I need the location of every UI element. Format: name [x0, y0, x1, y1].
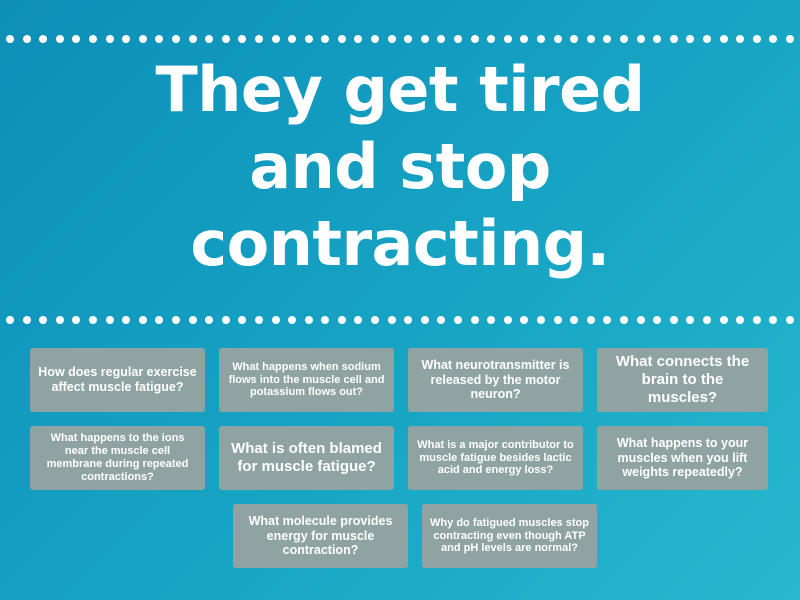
- divider-dot: [72, 35, 80, 43]
- page-title: They get tired and stop contracting.: [40, 52, 760, 283]
- divider-dot: [554, 316, 562, 324]
- divider-dot: [172, 316, 180, 324]
- divider-dot: [106, 35, 114, 43]
- divider-dot: [786, 35, 794, 43]
- divider-dot: [454, 316, 462, 324]
- divider-dot: [122, 316, 130, 324]
- divider-dot: [421, 35, 429, 43]
- divider-dot: [288, 316, 296, 324]
- divider-dot: [388, 316, 396, 324]
- headline-line-2: and stop: [40, 129, 760, 206]
- divider-dot: [653, 35, 661, 43]
- divider-dot: [338, 316, 346, 324]
- divider-dot: [720, 35, 728, 43]
- divider-dot: [421, 316, 429, 324]
- divider-dot: [222, 316, 230, 324]
- headline-line-3: contracting.: [40, 206, 760, 283]
- divider-dot: [637, 316, 645, 324]
- divider-dot: [338, 35, 346, 43]
- divider-dot: [753, 35, 761, 43]
- divider-dot: [769, 316, 777, 324]
- divider-dot: [437, 35, 445, 43]
- divider-dot: [703, 35, 711, 43]
- divider-dot: [554, 35, 562, 43]
- divider-dot: [122, 35, 130, 43]
- divider-dot: [769, 35, 777, 43]
- quiz-slide: They get tired and stop contracting. How…: [0, 0, 800, 600]
- divider-dot: [371, 316, 379, 324]
- tile-row-2: What happens to the ions near the muscle…: [30, 426, 770, 490]
- divider-dot: [321, 35, 329, 43]
- divider-dot: [288, 35, 296, 43]
- divider-dot: [354, 35, 362, 43]
- divider-dot: [753, 316, 761, 324]
- divider-dot: [222, 35, 230, 43]
- divider-dot: [670, 316, 678, 324]
- divider-dot: [471, 316, 479, 324]
- divider-dot: [305, 35, 313, 43]
- divider-dot: [388, 35, 396, 43]
- divider-dot: [786, 316, 794, 324]
- divider-dot: [603, 316, 611, 324]
- divider-dot: [321, 316, 329, 324]
- answer-tile[interactable]: What is often blamed for muscle fatigue?: [219, 426, 394, 490]
- divider-dot: [603, 35, 611, 43]
- divider-dot: [520, 35, 528, 43]
- divider-dot: [471, 35, 479, 43]
- divider-dot: [39, 316, 47, 324]
- divider-dot: [139, 316, 147, 324]
- divider-dot: [39, 35, 47, 43]
- answer-tile[interactable]: How does regular exercise affect muscle …: [30, 348, 205, 412]
- divider-dot: [587, 316, 595, 324]
- divider-dot: [653, 316, 661, 324]
- divider-dot: [238, 316, 246, 324]
- divider-dot: [537, 35, 545, 43]
- divider-dot: [504, 35, 512, 43]
- dot-divider-bottom: [0, 315, 800, 325]
- answer-tile-grid: How does regular exercise affect muscle …: [30, 348, 770, 582]
- divider-dot: [205, 35, 213, 43]
- divider-dot: [189, 316, 197, 324]
- divider-dot: [255, 316, 263, 324]
- answer-tile[interactable]: What happens to the ions near the muscle…: [30, 426, 205, 490]
- divider-dot: [272, 35, 280, 43]
- divider-dot: [6, 316, 14, 324]
- divider-dot: [106, 316, 114, 324]
- divider-dot: [587, 35, 595, 43]
- divider-dot: [238, 35, 246, 43]
- divider-dot: [703, 316, 711, 324]
- divider-dot: [189, 35, 197, 43]
- tile-row-1: How does regular exercise affect muscle …: [30, 348, 770, 412]
- answer-tile[interactable]: What molecule provides energy for muscle…: [233, 504, 408, 568]
- divider-dot: [56, 316, 64, 324]
- grid-spacer: [30, 504, 219, 568]
- divider-dot: [354, 316, 362, 324]
- divider-dot: [155, 316, 163, 324]
- divider-dot: [56, 35, 64, 43]
- divider-dot: [89, 316, 97, 324]
- divider-dot: [437, 316, 445, 324]
- divider-dot: [23, 316, 31, 324]
- divider-dot: [23, 35, 31, 43]
- divider-dot: [155, 35, 163, 43]
- divider-dot: [670, 35, 678, 43]
- answer-tile[interactable]: What happens to your muscles when you li…: [597, 426, 768, 490]
- divider-dot: [720, 316, 728, 324]
- divider-dot: [520, 316, 528, 324]
- divider-dot: [487, 316, 495, 324]
- answer-tile[interactable]: What connects the brain to the muscles?: [597, 348, 768, 412]
- divider-dot: [637, 35, 645, 43]
- divider-dot: [570, 35, 578, 43]
- divider-dot: [205, 316, 213, 324]
- divider-dot: [736, 316, 744, 324]
- divider-dot: [686, 316, 694, 324]
- divider-dot: [255, 35, 263, 43]
- divider-dot: [504, 316, 512, 324]
- tile-row-3: What molecule provides energy for muscle…: [30, 504, 770, 568]
- divider-dot: [89, 35, 97, 43]
- divider-dot: [172, 35, 180, 43]
- answer-tile[interactable]: Why do fatigued muscles stop contracting…: [422, 504, 597, 568]
- divider-dot: [620, 35, 628, 43]
- divider-dot: [272, 316, 280, 324]
- divider-dot: [139, 35, 147, 43]
- divider-dot: [537, 316, 545, 324]
- divider-dot: [6, 35, 14, 43]
- divider-dot: [371, 35, 379, 43]
- divider-dot: [620, 316, 628, 324]
- divider-dot: [686, 35, 694, 43]
- divider-dot: [570, 316, 578, 324]
- divider-dot: [404, 316, 412, 324]
- divider-dot: [454, 35, 462, 43]
- answer-tile[interactable]: What neurotransmitter is released by the…: [408, 348, 583, 412]
- dot-divider-top: [0, 34, 800, 44]
- divider-dot: [487, 35, 495, 43]
- divider-dot: [305, 316, 313, 324]
- divider-dot: [404, 35, 412, 43]
- divider-dot: [72, 316, 80, 324]
- headline-line-1: They get tired: [40, 52, 760, 129]
- answer-tile[interactable]: What is a major contributor to muscle fa…: [408, 426, 583, 490]
- divider-dot: [736, 35, 744, 43]
- answer-tile[interactable]: What happens when sodium flows into the …: [219, 348, 394, 412]
